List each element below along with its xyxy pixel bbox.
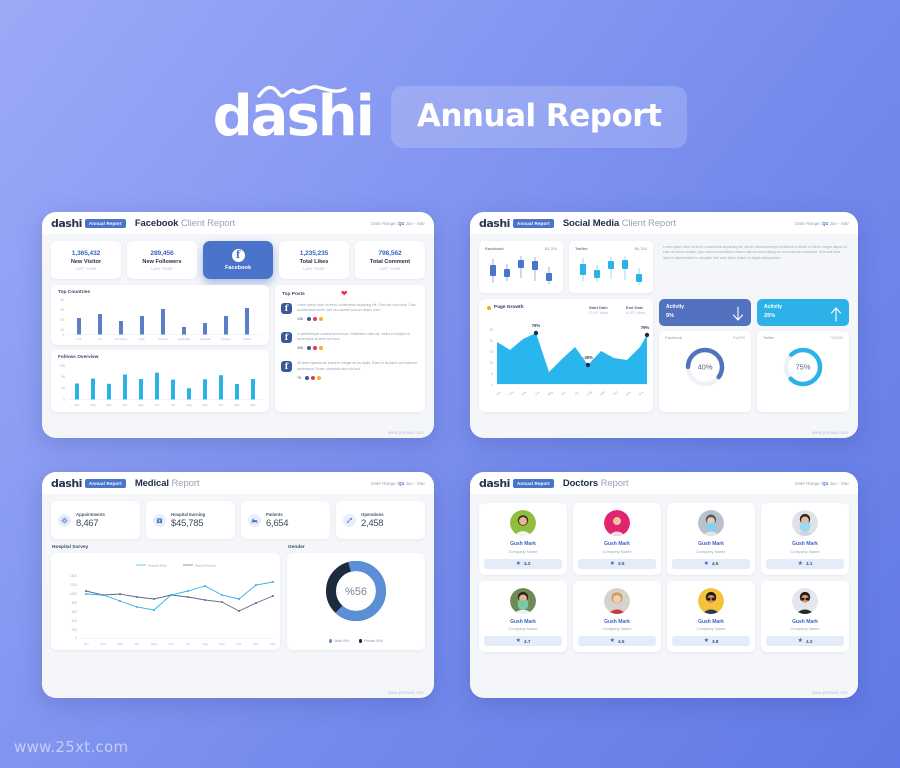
- medical-stats-row: Appointments 8,467 Hospital Earning $45,…: [51, 501, 425, 539]
- doctor-company: Company Name: [791, 626, 820, 631]
- top-countries-chart-card[interactable]: Top Countries 40 30 20 10 0: [51, 285, 269, 345]
- date-range-quarter: Q1: [398, 221, 404, 226]
- gender-title: Gender: [288, 545, 425, 550]
- doctor-company: Company Name: [697, 549, 726, 554]
- panel-header: dashi Annual Report Doctors Report Date …: [470, 472, 858, 494]
- panel-header: dashi Annual Report Facebook Client Repo…: [42, 212, 434, 234]
- panel-footer-url: www.premad.com: [812, 690, 848, 695]
- doctor-name: Gush Mark: [698, 619, 724, 625]
- medical-stat-value: 8,467: [76, 518, 105, 529]
- legend-label-2: Patient Reports: [195, 564, 216, 568]
- mini-logo-wordmark: dashi: [479, 217, 510, 230]
- doctor-company: Company Name: [509, 626, 538, 631]
- bed-icon: [248, 514, 261, 527]
- panel-title-rest: Client Report: [622, 218, 676, 229]
- svg-text:Apr: Apr: [123, 403, 128, 407]
- doctor-card[interactable]: Gush Mark Company Name ★ 4.6: [667, 503, 755, 575]
- rating-value: 4.7: [524, 639, 530, 644]
- panel-header: dashi Annual Report Social Media Client …: [470, 212, 858, 234]
- svg-text:Mar: Mar: [521, 390, 528, 396]
- svg-text:uk: uk: [98, 337, 102, 341]
- star-icon: ★: [704, 561, 709, 567]
- svg-text:Sep: Sep: [202, 403, 208, 407]
- page-growth-area-chart: 2520 1510 50 76%-30%79% Jan Feb: [479, 315, 653, 407]
- svg-text:Apr: Apr: [135, 642, 140, 646]
- doctor-card[interactable]: Gush Mark Company Name ★ 3.1: [761, 503, 849, 575]
- medical-stat-card[interactable]: Operations 2,458: [336, 501, 425, 539]
- date-range[interactable]: Date Range: Q1 Jan - Mar: [795, 221, 849, 226]
- stat-card[interactable]: 289,456 New Followers LAST YEAR: [127, 241, 197, 279]
- svg-text:Jun: Jun: [169, 642, 174, 646]
- donut-center-label: 40%: [697, 363, 712, 372]
- svg-text:Germany: Germany: [115, 337, 128, 341]
- follows-overview-bar-chart: 120 80 40 0: [51, 360, 269, 410]
- avatar: [604, 510, 630, 536]
- facebook-icon: f: [281, 361, 292, 372]
- legend-item-female: Female 65%: [359, 639, 384, 643]
- svg-text:0: 0: [491, 383, 493, 387]
- svg-text:Jan: Jan: [495, 390, 502, 396]
- follows-overview-chart-card[interactable]: Follows Overview 120 80 40 0: [51, 350, 269, 412]
- doctor-name: Gush Mark: [510, 619, 536, 625]
- stat-sub: LAST YEAR: [303, 267, 324, 271]
- doctor-card[interactable]: Gush Mark Company Name ★ 3.9: [573, 503, 661, 575]
- svg-text:1200: 1200: [70, 583, 77, 587]
- svg-text:40: 40: [60, 298, 64, 302]
- rating-value: 3.8: [712, 639, 718, 644]
- facebook-candlestick-chart: [479, 251, 563, 291]
- reactions: 20K: [297, 345, 419, 351]
- legend-label-1: Hospital Beds: [148, 564, 167, 568]
- svg-text:Aug: Aug: [202, 642, 208, 646]
- page-growth-title: Page Growth: [494, 305, 524, 310]
- rating-value: 4.2: [524, 561, 530, 566]
- svg-text:Dec: Dec: [250, 403, 256, 407]
- avatar: [698, 510, 724, 536]
- doctor-company: Company Name: [697, 626, 726, 631]
- donut-card-facebook[interactable]: Facebook Rs/200 40%: [659, 331, 751, 412]
- panel-social-media-report[interactable]: dashi Annual Report Social Media Client …: [470, 212, 858, 438]
- panel-facebook-report[interactable]: dashi Annual Report Facebook Client Repo…: [42, 212, 434, 438]
- svg-text:Mar: Mar: [117, 642, 122, 646]
- date-range[interactable]: Date Range: Q1 Jan - Mar: [371, 221, 425, 226]
- mini-annual-badge: Annual Report: [85, 479, 126, 488]
- svg-text:Jul: Jul: [574, 390, 580, 396]
- stat-card[interactable]: 1,365,432 New Visitor LAST YEAR: [51, 241, 121, 279]
- svg-text:0: 0: [62, 333, 64, 337]
- svg-text:Jul: Jul: [171, 403, 175, 407]
- doctor-name: Gush Mark: [792, 541, 818, 547]
- post-text: Sit amet egestas dui posuere, integer eu…: [297, 361, 419, 371]
- svg-text:30: 30: [60, 308, 64, 312]
- svg-text:May: May: [151, 642, 157, 646]
- star-icon: ★: [798, 561, 803, 567]
- gender-center-label: %56: [345, 586, 367, 598]
- date-range[interactable]: Date Range: Q1 Jan - Mar: [795, 481, 849, 486]
- facebook-icon: f: [232, 249, 245, 262]
- medical-stat-value: 6,654: [266, 518, 288, 529]
- panel-medical-report[interactable]: dashi Annual Report Medical Report Date …: [42, 472, 434, 698]
- medical-stat-value: $45,785: [171, 518, 205, 529]
- svg-text:Mar: Mar: [106, 403, 111, 407]
- svg-text:-30%: -30%: [583, 355, 593, 360]
- arrow-up-icon: [830, 306, 842, 322]
- date-range-value: Jan - Mar: [406, 221, 425, 226]
- svg-text:76%: 76%: [532, 323, 541, 328]
- description-text: Lorem ipsum dolor sit amet, consectetur …: [663, 245, 847, 261]
- svg-text:0: 0: [63, 398, 65, 402]
- date-range-label: Date Range:: [795, 221, 821, 226]
- panel-header: dashi Annual Report Medical Report Date …: [42, 472, 434, 494]
- doctor-company: Company Name: [509, 549, 538, 554]
- twitter-candlestick-chart: [569, 251, 653, 291]
- chart-title: Top Countries: [51, 285, 269, 295]
- gender-legend: Male 45% Female 65%: [287, 639, 425, 643]
- rating-badge[interactable]: ★ 3.8: [672, 636, 750, 646]
- svg-text:Jul: Jul: [186, 642, 190, 646]
- rating-value: 4.6: [712, 561, 718, 566]
- svg-text:May: May: [547, 390, 554, 397]
- svg-text:Sep: Sep: [599, 390, 606, 397]
- doctor-card[interactable]: Gush Mark Company Name ★ 4.5: [573, 581, 661, 653]
- svg-text:Canada: Canada: [200, 337, 211, 341]
- date-range-label: Date Range:: [795, 481, 821, 486]
- avatar: [510, 510, 536, 536]
- hospital-survey-title: Hospital Survey: [52, 545, 280, 550]
- top-posts-title: Top Posts: [282, 292, 305, 297]
- reactions: 7K: [297, 375, 419, 381]
- svg-text:Nov: Nov: [253, 642, 259, 646]
- start-date-label: Start Date: [589, 305, 608, 310]
- arrow-down-icon: [732, 306, 744, 322]
- date-range[interactable]: Date Range: Q1 Jan - Mar: [371, 481, 425, 486]
- annual-report-label: Annual Report: [417, 98, 662, 134]
- stat-sub: LAST YEAR: [151, 267, 172, 271]
- panel-title-bold: Social Media: [563, 218, 619, 229]
- medical-stat-value: 2,458: [361, 518, 384, 529]
- facebook-icon: f: [281, 332, 292, 343]
- stat-value: 798,562: [378, 250, 401, 257]
- top-posts-card[interactable]: Top Posts ❤ f Lorem ipsum dolor sit amet…: [275, 285, 425, 412]
- medical-stat-label: Patients: [266, 512, 288, 517]
- doctor-card[interactable]: Gush Mark Company Name ★ 4.2: [479, 503, 567, 575]
- mini-logo: dashi Annual Report: [479, 477, 554, 490]
- rating-badge[interactable]: ★ 4.2: [484, 559, 562, 569]
- mini-logo: dashi Annual Report: [479, 217, 554, 230]
- stat-cards-row: 1,365,432 New Visitor LAST YEAR 289,456 …: [51, 241, 425, 279]
- panel-title: Social Media Client Report: [563, 218, 676, 229]
- dashi-logo: dashi: [213, 89, 373, 145]
- svg-text:usa: usa: [77, 337, 82, 341]
- doctors-grid: Gush Mark Company Name ★ 4.2 Gush Mark C…: [479, 503, 849, 652]
- stat-card[interactable]: 1,235,235 Total Likes LAST YEAR: [279, 241, 349, 279]
- mini-annual-badge: Annual Report: [85, 219, 126, 228]
- svg-text:Aug: Aug: [586, 390, 593, 397]
- svg-text:10: 10: [60, 328, 64, 332]
- haha-icon: [316, 375, 322, 381]
- mini-annual-badge: Annual Report: [513, 479, 554, 488]
- avatar: [792, 588, 818, 614]
- gender-donut-chart: %56: [287, 553, 425, 631]
- squiggle-icon: [257, 83, 347, 101]
- svg-text:15: 15: [489, 350, 493, 354]
- svg-text:10: 10: [489, 361, 493, 365]
- mini-logo: dashi Annual Report: [51, 217, 126, 230]
- rating-badge[interactable]: ★ 3.1: [766, 559, 844, 569]
- svg-text:200: 200: [72, 628, 78, 632]
- svg-text:Feb: Feb: [100, 642, 106, 646]
- svg-text:Jan: Jan: [75, 403, 80, 407]
- panel-footer-url: www.premad.com: [812, 430, 848, 435]
- doctor-name: Gush Mark: [698, 541, 724, 547]
- donut-center-label: 75%: [795, 363, 810, 372]
- twitter-donut-chart: 75%: [757, 340, 849, 394]
- gender-card[interactable]: %56 Male 45% Female 65%: [287, 553, 425, 650]
- rating-value: 3.1: [806, 561, 812, 566]
- panel-footer-url: www.premad.com: [388, 690, 424, 695]
- post-text: Lorem ipsum dolor sit amet, consectetur …: [297, 303, 419, 313]
- end-date-label: End Date: [626, 305, 645, 310]
- stat-value: 1,235,235: [300, 250, 328, 257]
- svg-text:1400: 1400: [70, 574, 77, 578]
- medical-stat-card[interactable]: Hospital Earning $45,785: [146, 501, 235, 539]
- panel-title-rest: Client Report: [181, 218, 235, 229]
- facebook-donut-chart: 40%: [659, 340, 751, 394]
- hospital-survey-card[interactable]: Hospital Beds Patient Reports 14001200 1…: [51, 553, 280, 650]
- facebook-icon: f: [281, 303, 292, 314]
- svg-text:Jan: Jan: [84, 642, 89, 646]
- doctor-company: Company Name: [791, 549, 820, 554]
- svg-text:400: 400: [72, 619, 78, 623]
- star-icon: ★: [610, 561, 615, 567]
- svg-text:5: 5: [491, 372, 493, 376]
- stat-label: New Visitor: [71, 259, 101, 265]
- legend-item-male: Male 45%: [329, 639, 350, 643]
- mini-logo-wordmark: dashi: [479, 477, 510, 490]
- doctor-company: Company Name: [603, 549, 632, 554]
- reaction-count: 13K: [297, 317, 303, 321]
- panel-title-rest: Report: [172, 478, 200, 489]
- panel-title-bold: Medical: [135, 478, 169, 489]
- doctor-name: Gush Mark: [604, 541, 630, 547]
- svg-text:1000: 1000: [70, 592, 77, 596]
- medical-stat-card[interactable]: Appointments 8,467: [51, 501, 140, 539]
- rating-badge[interactable]: ★ 4.3: [766, 636, 844, 646]
- star-icon: ★: [516, 638, 521, 644]
- stock-card-facebook[interactable]: Facebook $4,200: [479, 241, 563, 293]
- rating-badge[interactable]: ★ 4.5: [578, 636, 656, 646]
- svg-text:Dec: Dec: [638, 390, 645, 397]
- svg-text:Feb: Feb: [508, 390, 515, 397]
- post-item[interactable]: f Sit amet egestas dui posuere, integer …: [275, 356, 425, 385]
- rating-badge[interactable]: ★ 4.6: [672, 559, 750, 569]
- svg-text:20: 20: [489, 339, 493, 343]
- star-icon: ★: [516, 561, 521, 567]
- post-item[interactable]: f In pellentesque consequat rhoncus. Ves…: [275, 327, 425, 356]
- mini-logo: dashi Annual Report: [51, 477, 126, 490]
- mini-logo-wordmark: dashi: [51, 477, 82, 490]
- svg-text:China: China: [243, 337, 251, 341]
- date-range-quarter: Q1: [822, 221, 828, 226]
- date-range-label: Date Range:: [371, 221, 397, 226]
- svg-text:Nov: Nov: [625, 390, 632, 397]
- svg-text:May: May: [138, 403, 144, 407]
- stat-value: 289,456: [150, 250, 173, 257]
- post-item[interactable]: f Lorem ipsum dolor sit amet, consectetu…: [275, 298, 425, 327]
- svg-text:40: 40: [61, 386, 65, 390]
- doctor-card[interactable]: Gush Mark Company Name ★ 3.8: [667, 581, 755, 653]
- haha-icon: [318, 316, 324, 322]
- site-watermark: www.25xt.com: [14, 738, 128, 756]
- rating-value: 4.5: [618, 639, 624, 644]
- svg-text:79%: 79%: [641, 325, 650, 330]
- doctor-card[interactable]: Gush Mark Company Name ★ 4.3: [761, 581, 849, 653]
- svg-text:Australia: Australia: [178, 337, 190, 341]
- stock-card-twitter[interactable]: Twitter $6,334: [569, 241, 653, 293]
- panel-title: Facebook Client Report: [135, 218, 235, 229]
- mini-annual-badge: Annual Report: [513, 219, 554, 228]
- stat-label: Total Comment: [370, 259, 410, 265]
- svg-text:25: 25: [489, 328, 493, 332]
- svg-text:Jun: Jun: [155, 403, 160, 407]
- stat-card[interactable]: 798,562 Total Comment LAST YEAR: [355, 241, 425, 279]
- avatar: [698, 588, 724, 614]
- date-range-value: Jan - Mar: [830, 221, 849, 226]
- page-growth-card[interactable]: Page Growth Start Date 10,247 Views End …: [479, 299, 653, 412]
- date-range-value: Jan - Mar: [406, 481, 425, 486]
- doctor-company: Company Name: [603, 626, 632, 631]
- top-countries-bar-chart: 40 30 20 10 0: [51, 295, 269, 343]
- date-range-quarter: Q1: [822, 481, 828, 486]
- reaction-count: 20K: [297, 346, 303, 350]
- haha-icon: [318, 345, 324, 351]
- panel-title: Medical Report: [135, 478, 200, 489]
- date-range-label: Date Range:: [371, 481, 397, 486]
- reaction-count: 7K: [297, 376, 301, 380]
- avatar: [510, 588, 536, 614]
- panel-title-bold: Facebook: [135, 218, 179, 229]
- svg-text:Jun: Jun: [560, 390, 567, 396]
- activity-card-down[interactable]: Activity 9%: [659, 299, 751, 326]
- gear-icon: [58, 514, 71, 527]
- svg-text:Aug: Aug: [186, 403, 192, 407]
- stat-value: 1,365,432: [72, 250, 100, 257]
- panel-doctors-report[interactable]: dashi Annual Report Doctors Report Date …: [470, 472, 858, 698]
- panel-title-rest: Report: [601, 478, 629, 489]
- svg-text:France: France: [158, 337, 168, 341]
- svg-text:Nov: Nov: [234, 403, 240, 407]
- svg-text:800: 800: [72, 601, 78, 605]
- svg-text:Feb: Feb: [90, 403, 96, 407]
- svg-text:Oct: Oct: [219, 403, 224, 407]
- stat-sub: LAST YEAR: [75, 267, 96, 271]
- stat-sub: LAST YEAR: [379, 267, 400, 271]
- avatar: [792, 510, 818, 536]
- star-icon: ★: [798, 638, 803, 644]
- reactions: 13K: [297, 316, 419, 322]
- rating-badge[interactable]: ★ 4.7: [484, 636, 562, 646]
- heart-icon: ❤: [341, 290, 348, 298]
- svg-text:Italy: Italy: [139, 337, 145, 341]
- avatar: [604, 588, 630, 614]
- panel-footer-url: www.premad.com: [388, 430, 424, 435]
- facebook-label: Facebook: [225, 265, 251, 271]
- svg-text:Oct: Oct: [612, 390, 618, 396]
- hospital-survey-line-chart: Hospital Beds Patient Reports 14001200 1…: [51, 553, 280, 650]
- medical-stat-label: Operations: [361, 512, 384, 517]
- post-text: In pellentesque consequat rhoncus. Vesti…: [297, 332, 419, 342]
- page-title-block: dashi Annual Report: [0, 86, 900, 148]
- doctor-name: Gush Mark: [510, 541, 536, 547]
- surgery-icon: [343, 514, 356, 527]
- rating-value: 3.9: [618, 561, 624, 566]
- doctor-card[interactable]: Gush Mark Company Name ★ 4.7: [479, 581, 567, 653]
- doctor-name: Gush Mark: [604, 619, 630, 625]
- svg-text:Oct: Oct: [237, 642, 242, 646]
- stat-label: Total Likes: [300, 259, 329, 265]
- doctor-name: Gush Mark: [792, 619, 818, 625]
- medical-stat-label: Hospital Earning: [171, 512, 205, 517]
- star-icon: ★: [610, 638, 615, 644]
- svg-text:600: 600: [72, 610, 78, 614]
- date-range-value: Jan - Mar: [830, 481, 849, 486]
- svg-text:0: 0: [75, 636, 77, 640]
- donut-card-twitter[interactable]: Twitter 778/233 75%: [757, 331, 849, 412]
- page-growth-dot-icon: [487, 306, 491, 310]
- star-icon: ★: [704, 638, 709, 644]
- facebook-highlight-card[interactable]: f Facebook: [203, 241, 273, 279]
- svg-text:Sep: Sep: [219, 642, 225, 646]
- chart-title: Follows Overview: [51, 350, 269, 360]
- svg-text:120: 120: [60, 364, 66, 368]
- svg-text:greece: greece: [221, 337, 231, 341]
- mini-logo-wordmark: dashi: [51, 217, 82, 230]
- svg-text:Dec: Dec: [270, 642, 276, 646]
- stat-label: New Followers: [142, 259, 181, 265]
- panel-title: Doctors Report: [563, 478, 629, 489]
- panel-title-bold: Doctors: [563, 478, 598, 489]
- medical-stat-card[interactable]: Patients 6,654: [241, 501, 330, 539]
- hospital-icon: [153, 514, 166, 527]
- rating-badge[interactable]: ★ 3.9: [578, 559, 656, 569]
- svg-text:Apr: Apr: [534, 390, 540, 396]
- annual-report-badge: Annual Report: [391, 86, 688, 148]
- medical-stat-label: Appointments: [76, 512, 105, 517]
- svg-text:80: 80: [61, 375, 65, 379]
- activity-card-up[interactable]: Activity 25%: [757, 299, 849, 326]
- svg-text:20: 20: [60, 318, 64, 322]
- date-range-quarter: Q1: [398, 481, 404, 486]
- rating-value: 4.3: [806, 639, 812, 644]
